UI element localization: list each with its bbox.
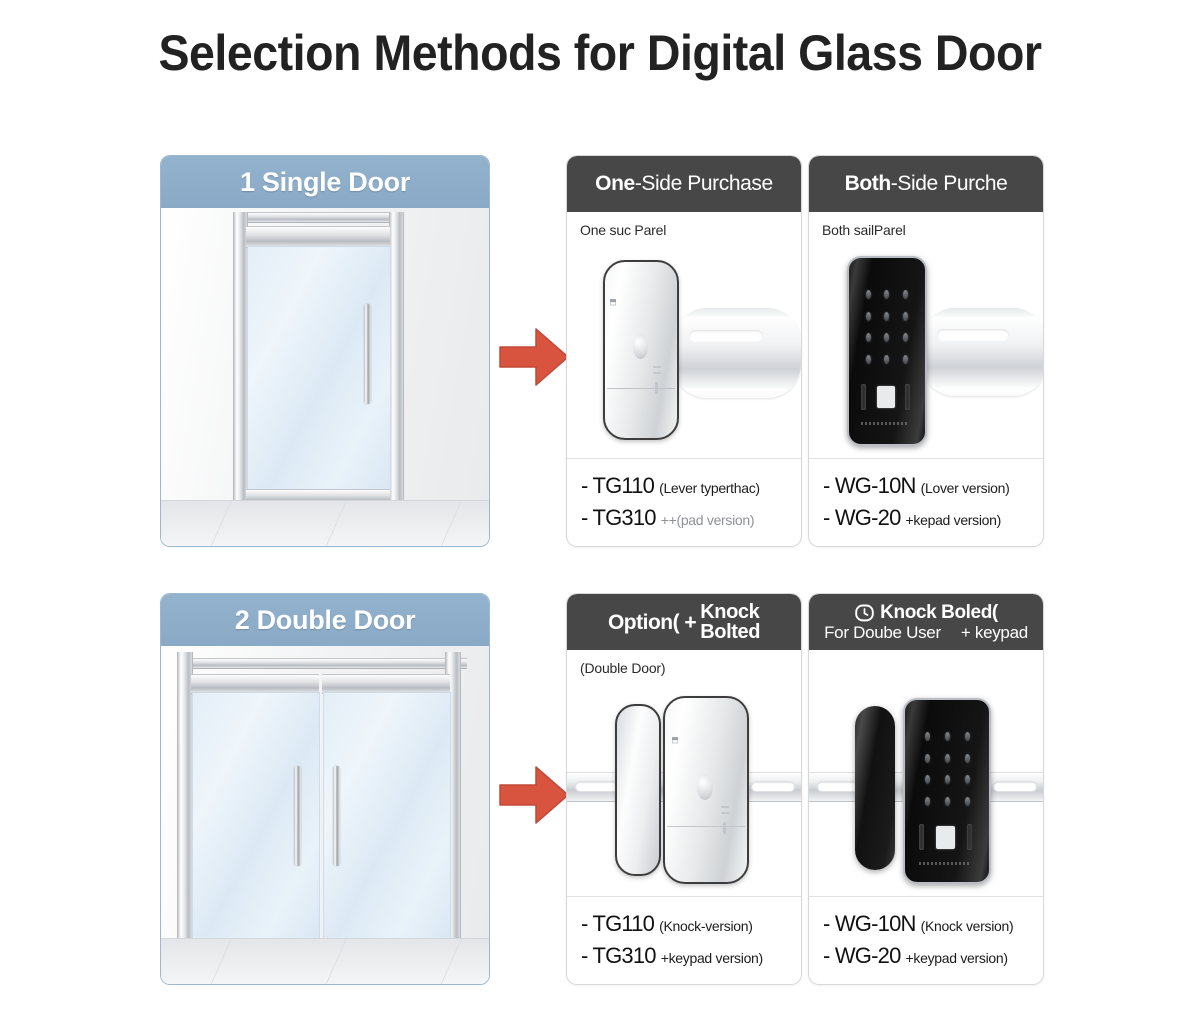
black-keypad-lock-image	[809, 242, 1043, 454]
reader-strip-left	[919, 824, 924, 850]
lock-seam	[667, 826, 745, 827]
rail-slot-left	[575, 781, 619, 792]
keypad-key[interactable]	[957, 769, 977, 791]
lock-indicator-3	[723, 822, 726, 834]
keypad-key[interactable]	[859, 306, 878, 328]
caption-line: - WG-10N (Lover version)	[823, 473, 1043, 499]
keypad-key[interactable]	[917, 791, 937, 813]
keypad-key[interactable]	[937, 726, 957, 748]
u-handle-shape	[673, 308, 801, 398]
product-card-header: Both-Side Purche	[809, 156, 1043, 212]
caption-note: +keypad version)	[661, 950, 763, 966]
page-title: Selection Methods for Digital Glass Door	[42, 24, 1158, 82]
keypad-key[interactable]	[957, 748, 977, 770]
leaf-right-top-rail	[322, 674, 450, 694]
row-double-door: 2 Double Door	[0, 593, 1200, 993]
keypad-key[interactable]	[896, 349, 915, 371]
u-handle-shape	[921, 308, 1044, 396]
caption-model: - TG110	[581, 473, 654, 499]
product-card-both-side-purchase[interactable]: Both-Side Purche Both sailParel	[808, 155, 1044, 547]
keypad-key[interactable]	[957, 726, 977, 748]
clock-icon	[854, 602, 875, 623]
door-jamb-right	[389, 212, 404, 502]
caption-line: - TG310 +keypad version)	[581, 943, 801, 969]
lock-indicator-1	[721, 806, 729, 808]
silver-double-lock-image: ◧	[567, 680, 801, 892]
product-subtitle: Both sailParel	[822, 222, 906, 238]
door-card-double: 2 Double Door	[160, 593, 490, 985]
floor	[161, 500, 489, 546]
keypad-key[interactable]	[878, 306, 897, 328]
lock-body-silver: ◧	[603, 260, 679, 440]
leaf-left-handle	[294, 766, 301, 866]
product-card-header: One-Side Purchase	[567, 156, 801, 212]
product-card-knock-boled-keypad[interactable]: Knock Boled( For Doube User + keypad	[808, 593, 1044, 985]
keypad-key[interactable]	[896, 327, 915, 349]
reader-strip-right	[905, 384, 910, 410]
lock-back-plate-silver	[615, 704, 661, 876]
caption-note: (Knock version)	[921, 918, 1014, 934]
caption-model: - WG-10N	[823, 473, 916, 499]
caption-model: - WG-20	[823, 943, 901, 969]
caption-note: ++(pad version)	[661, 512, 755, 528]
header-line2-left-text: For Doube User	[824, 624, 941, 641]
door-card-single: 1 Single Door	[160, 155, 490, 547]
keypad-key[interactable]	[917, 726, 937, 748]
lock-body-silver: ◧	[663, 696, 749, 884]
keypad-key[interactable]	[859, 349, 878, 371]
caption-line: - WG-20 +keypad version)	[823, 943, 1043, 969]
silver-lock-image: ◧	[567, 242, 801, 454]
keypad-key[interactable]	[878, 349, 897, 371]
header-line2-right-text: + keypad	[961, 624, 1028, 641]
caption-note: +kepad version)	[906, 512, 1002, 528]
product-caption-list: - TG110 (Lever typerthac) - TG310 ++(pad…	[567, 458, 801, 546]
speaker-grille	[861, 422, 909, 425]
keypad-key[interactable]	[937, 791, 957, 813]
caption-line: - WG-10N (Knock version)	[823, 911, 1043, 937]
caption-model: - WG-10N	[823, 911, 916, 937]
reader-strip-left	[861, 384, 866, 410]
caption-note: (Lover version)	[921, 480, 1010, 496]
lock-body-black	[847, 256, 927, 446]
u-handle-slot	[689, 330, 763, 342]
floor	[161, 938, 489, 984]
header-lead-text: Option( +	[608, 612, 696, 633]
brand-mark: ◧	[609, 298, 618, 307]
door-handle	[364, 304, 371, 404]
caption-note: +keypad version)	[906, 950, 1008, 966]
keypad-key[interactable]	[896, 284, 915, 306]
caption-model: - TG110	[581, 911, 654, 937]
lock-knob	[697, 774, 713, 800]
keypad-key[interactable]	[859, 284, 878, 306]
door-jamb-left	[233, 212, 248, 502]
single-door-illustration	[161, 208, 489, 546]
product-caption-list: - WG-10N (Knock version) - WG-20 +keypad…	[809, 896, 1043, 984]
keypad-grid[interactable]	[859, 284, 915, 370]
lock-indicator-1	[653, 366, 661, 368]
keypad-key[interactable]	[937, 769, 957, 791]
lock-back-plate-black	[855, 706, 895, 870]
keypad-key[interactable]	[917, 748, 937, 770]
u-handle-slot	[937, 329, 1009, 341]
header-strong-text: One	[595, 172, 635, 195]
double-door-illustration	[161, 646, 489, 984]
door-transom-bar	[239, 212, 399, 223]
caption-line: - TG110 (Knock-version)	[581, 911, 801, 937]
door-card-single-label: 1 Single Door	[161, 156, 489, 208]
lock-seam	[607, 388, 675, 389]
door-card-double-label: 2 Double Door	[161, 594, 489, 646]
caption-note: (Knock-version)	[659, 918, 753, 934]
rail-slot-right	[993, 781, 1037, 792]
product-card-option-knock-bolted[interactable]: Option( + Knock Bolted (Double Door) ◧	[566, 593, 802, 985]
product-card-header: Option( + Knock Bolted	[567, 594, 801, 650]
leaf-right-glass	[323, 692, 451, 944]
lock-indicator-2	[653, 372, 661, 374]
card-reader-icon[interactable]	[877, 386, 895, 408]
keypad-key[interactable]	[937, 748, 957, 770]
product-subtitle: One suc Parel	[580, 222, 666, 238]
caption-line: - WG-20 +kepad version)	[823, 505, 1043, 531]
header-stack-bottom: Bolted	[700, 622, 760, 642]
product-caption-list: - TG110 (Knock-version) - TG310 +keypad …	[567, 896, 801, 984]
brand-mark: ◧	[671, 736, 680, 745]
product-subtitle: (Double Door)	[580, 660, 665, 676]
card-reader-icon[interactable]	[936, 826, 955, 849]
header-line1-text: Knock Boled(	[880, 603, 998, 622]
lock-body-black	[903, 698, 991, 884]
right-arrow-icon	[498, 325, 570, 389]
keypad-key[interactable]	[878, 284, 897, 306]
door-jamb-left	[177, 652, 193, 956]
header-rest-text: -Side Purchase	[635, 172, 773, 195]
header-strong-text: Both	[845, 172, 891, 195]
rail-slot-right	[751, 781, 795, 792]
reader-strip-right	[967, 824, 972, 850]
keypad-key[interactable]	[957, 791, 977, 813]
leaf-left-top-rail	[191, 674, 319, 694]
door-top-rail	[246, 226, 390, 248]
caption-model: - TG310	[581, 505, 656, 531]
caption-model: - TG310	[581, 943, 656, 969]
lock-indicator-2	[721, 812, 729, 814]
caption-line: - TG110 (Lever typerthac)	[581, 473, 801, 499]
right-arrow-icon	[498, 763, 570, 827]
keypad-key[interactable]	[896, 306, 915, 328]
door-transom-bar	[183, 658, 467, 669]
product-card-header: Knock Boled( For Doube User + keypad	[809, 594, 1043, 650]
keypad-key[interactable]	[878, 327, 897, 349]
keypad-grid[interactable]	[917, 726, 977, 812]
product-caption-list: - WG-10N (Lover version) - WG-20 +kepad …	[809, 458, 1043, 546]
header-stack-top: Knock	[700, 602, 759, 622]
leaf-right-handle	[333, 766, 340, 866]
caption-note: (Lever typerthac)	[659, 480, 760, 496]
product-card-one-side-purchase[interactable]: One-Side Purchase One suc Parel ◧ - TG11…	[566, 155, 802, 547]
speaker-grille	[919, 862, 971, 865]
keypad-key[interactable]	[859, 327, 878, 349]
black-double-lock-image	[809, 680, 1043, 892]
row-single-door: 1 Single Door	[0, 155, 1200, 555]
keypad-key[interactable]	[917, 769, 937, 791]
caption-model: - WG-20	[823, 505, 901, 531]
caption-line: - TG310 ++(pad version)	[581, 505, 801, 531]
header-rest-text: -Side Purche	[891, 172, 1008, 195]
lock-knob	[633, 334, 648, 359]
